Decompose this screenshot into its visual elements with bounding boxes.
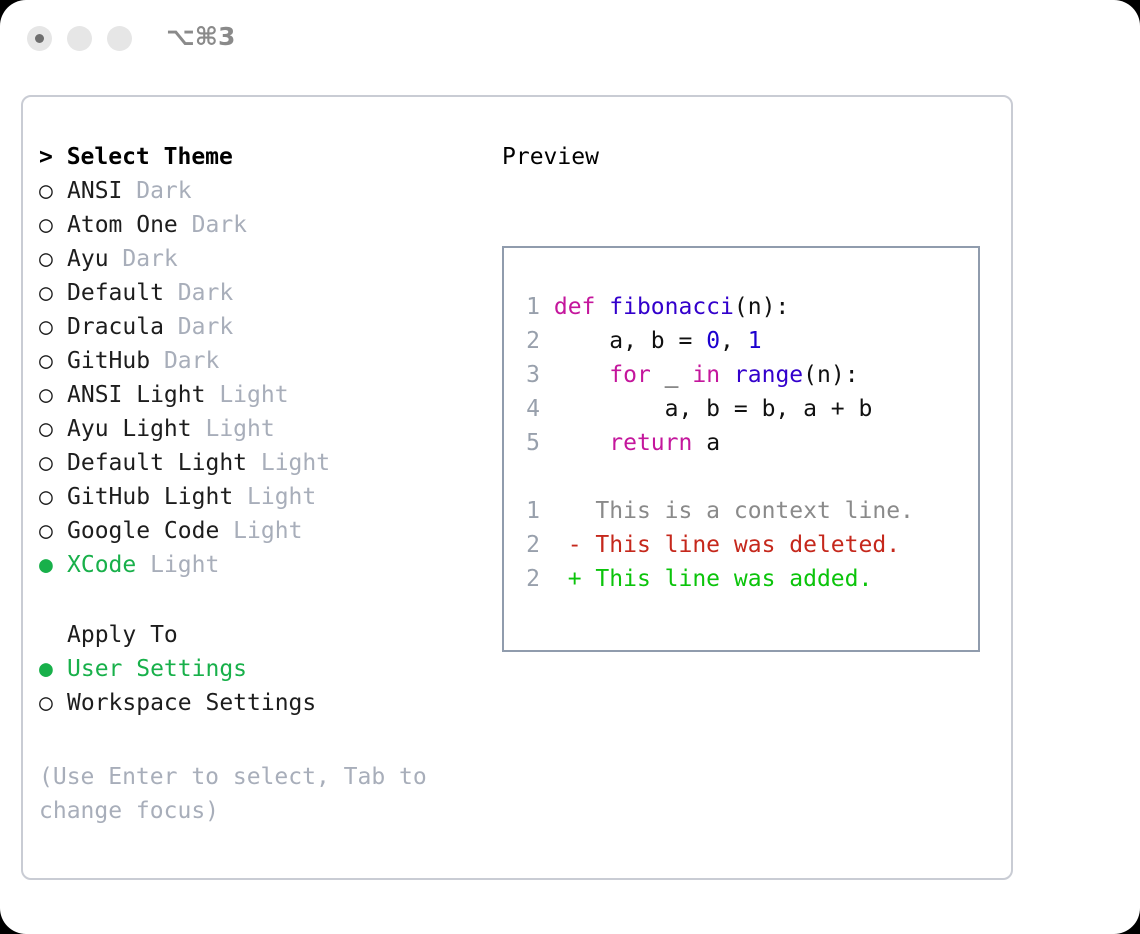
theme-list-item[interactable]: ○Ayu Dark [39, 242, 489, 276]
preview-box: 1 def fibonacci(n):2 a, b = 0, 13 for _ … [502, 246, 980, 652]
diff-sign [568, 498, 596, 524]
radio-selected-icon: ● [39, 652, 67, 686]
radio-unselected-icon: ○ [39, 686, 67, 720]
theme-category-label: Dark [164, 280, 233, 306]
theme-list-item[interactable]: ○ANSI Dark [39, 174, 489, 208]
apply-to-option[interactable]: ●User Settings [39, 652, 489, 686]
apply-to-section: Apply To ●User Settings○Workspace Settin… [39, 618, 489, 720]
radio-unselected-icon: ○ [39, 514, 67, 548]
code-token: fibonacci [609, 294, 734, 320]
theme-list-item[interactable]: ○Default Dark [39, 276, 489, 310]
theme-name-label: Default [67, 280, 164, 306]
diff-line-number: 2 [520, 562, 540, 596]
code-line: 1 def fibonacci(n): [520, 290, 914, 324]
theme-list-item[interactable]: ○Default Light Light [39, 446, 489, 480]
preview-title: Preview [502, 140, 1002, 174]
code-token: (n): [734, 294, 789, 320]
theme-name-label: Ayu [67, 246, 109, 272]
main-panel: > Select Theme ○ANSI Dark○Atom One Dark○… [21, 95, 1013, 880]
radio-unselected-icon: ○ [39, 276, 67, 310]
radio-unselected-icon: ○ [39, 480, 67, 514]
diff-text: This line was deleted. [595, 532, 900, 558]
code-line-number: 3 [520, 358, 540, 392]
theme-list-item[interactable]: ●XCode Light [39, 548, 489, 582]
code-sample: 1 def fibonacci(n):2 a, b = 0, 13 for _ … [520, 290, 914, 596]
diff-line: 2 - This line was deleted. [520, 528, 914, 562]
theme-name-label: ANSI [67, 178, 122, 204]
code-token: in [692, 362, 720, 388]
traffic-light-close[interactable] [27, 26, 52, 51]
theme-name-label: Atom One [67, 212, 178, 238]
theme-category-label: Light [219, 518, 302, 544]
code-token: _ [651, 362, 693, 388]
code-line-number: 2 [520, 324, 540, 358]
apply-to-header: Apply To [39, 618, 489, 652]
radio-unselected-icon: ○ [39, 378, 67, 412]
apply-to-options[interactable]: ●User Settings○Workspace Settings [39, 652, 489, 720]
theme-category-label: Dark [178, 212, 247, 238]
theme-name-label: ANSI Light [67, 382, 205, 408]
theme-name-label: Default Light [67, 450, 247, 476]
theme-list-item[interactable]: ○Dracula Dark [39, 310, 489, 344]
diff-line-number: 1 [520, 494, 540, 528]
theme-category-label: Dark [109, 246, 178, 272]
theme-list-item[interactable]: ○GitHub Light Light [39, 480, 489, 514]
theme-name-label: Ayu Light [67, 416, 192, 442]
diff-text: This line was added. [595, 566, 872, 592]
code-token [720, 362, 734, 388]
diff-text: This is a context line. [595, 498, 914, 524]
theme-list-item[interactable]: ○Google Code Light [39, 514, 489, 548]
radio-unselected-icon: ○ [39, 208, 67, 242]
code-token: return [609, 430, 692, 456]
traffic-light-minimize[interactable] [67, 26, 92, 51]
code-token: (n): [803, 362, 858, 388]
theme-category-label: Dark [150, 348, 219, 374]
select-theme-header: > Select Theme [39, 140, 489, 174]
diff-line-number: 2 [520, 528, 540, 562]
code-line: 5 return a [520, 426, 914, 460]
code-token: 0 [706, 328, 720, 354]
code-token: 1 [748, 328, 762, 354]
preview-column: Preview 1 def fibonacci(n):2 a, b = 0, 1… [502, 140, 1002, 174]
code-line: 2 a, b = 0, 1 [520, 324, 914, 358]
code-token: a, b = [554, 328, 706, 354]
diff-line: 2 + This line was added. [520, 562, 914, 596]
theme-name-label: XCode [67, 552, 136, 578]
apply-to-option[interactable]: ○Workspace Settings [39, 686, 489, 720]
theme-name-label: GitHub [67, 348, 150, 374]
code-line: 4 a, b = b, a + b [520, 392, 914, 426]
code-token: def [554, 294, 609, 320]
theme-category-label: Light [136, 552, 219, 578]
radio-unselected-icon: ○ [39, 174, 67, 208]
theme-selection-column: > Select Theme ○ANSI Dark○Atom One Dark○… [39, 140, 489, 828]
code-token [554, 362, 609, 388]
window-titlebar: ⌥⌘3 [0, 0, 1140, 78]
radio-unselected-icon: ○ [39, 310, 67, 344]
theme-list-item[interactable]: ○GitHub Dark [39, 344, 489, 378]
theme-category-label: Light [247, 450, 330, 476]
code-line-number: 1 [520, 290, 540, 324]
theme-list-item[interactable]: ○Ayu Light Light [39, 412, 489, 446]
keyboard-hint-text: (Use Enter to select, Tab to change focu… [39, 760, 459, 828]
radio-unselected-icon: ○ [39, 446, 67, 480]
code-line-number: 5 [520, 426, 540, 460]
diff-line: 1 This is a context line. [520, 494, 914, 528]
code-token: for [609, 362, 651, 388]
diff-sign: + [568, 566, 596, 592]
theme-list-item[interactable]: ○ANSI Light Light [39, 378, 489, 412]
theme-list[interactable]: ○ANSI Dark○Atom One Dark○Ayu Dark○Defaul… [39, 174, 489, 582]
theme-name-label: Google Code [67, 518, 219, 544]
theme-name-label: Dracula [67, 314, 164, 340]
theme-category-label: Light [205, 382, 288, 408]
theme-list-item[interactable]: ○Atom One Dark [39, 208, 489, 242]
code-token: range [734, 362, 803, 388]
code-line-number: 4 [520, 392, 540, 426]
theme-category-label: Dark [164, 314, 233, 340]
theme-category-label: Light [233, 484, 316, 510]
diff-sign: - [568, 532, 596, 558]
traffic-light-active-dot [35, 34, 44, 43]
code-token: , [720, 328, 748, 354]
radio-unselected-icon: ○ [39, 412, 67, 446]
apply-to-option-label: Workspace Settings [67, 690, 316, 716]
code-token: a [692, 430, 720, 456]
code-token [554, 430, 609, 456]
theme-category-label: Light [192, 416, 275, 442]
apply-to-option-label: User Settings [67, 656, 247, 682]
code-line: 3 for _ in range(n): [520, 358, 914, 392]
theme-picker-window: ⌥⌘3 > Select Theme ○ANSI Dark○Atom One D… [0, 0, 1140, 934]
theme-category-label: Dark [122, 178, 191, 204]
radio-selected-icon: ● [39, 548, 67, 582]
radio-unselected-icon: ○ [39, 344, 67, 378]
code-spacer [520, 460, 914, 494]
code-token: a, b = b, a + b [554, 396, 873, 422]
keyboard-shortcut-label: ⌥⌘3 [166, 22, 235, 51]
theme-name-label: GitHub Light [67, 484, 233, 510]
traffic-light-maximize[interactable] [107, 26, 132, 51]
radio-unselected-icon: ○ [39, 242, 67, 276]
